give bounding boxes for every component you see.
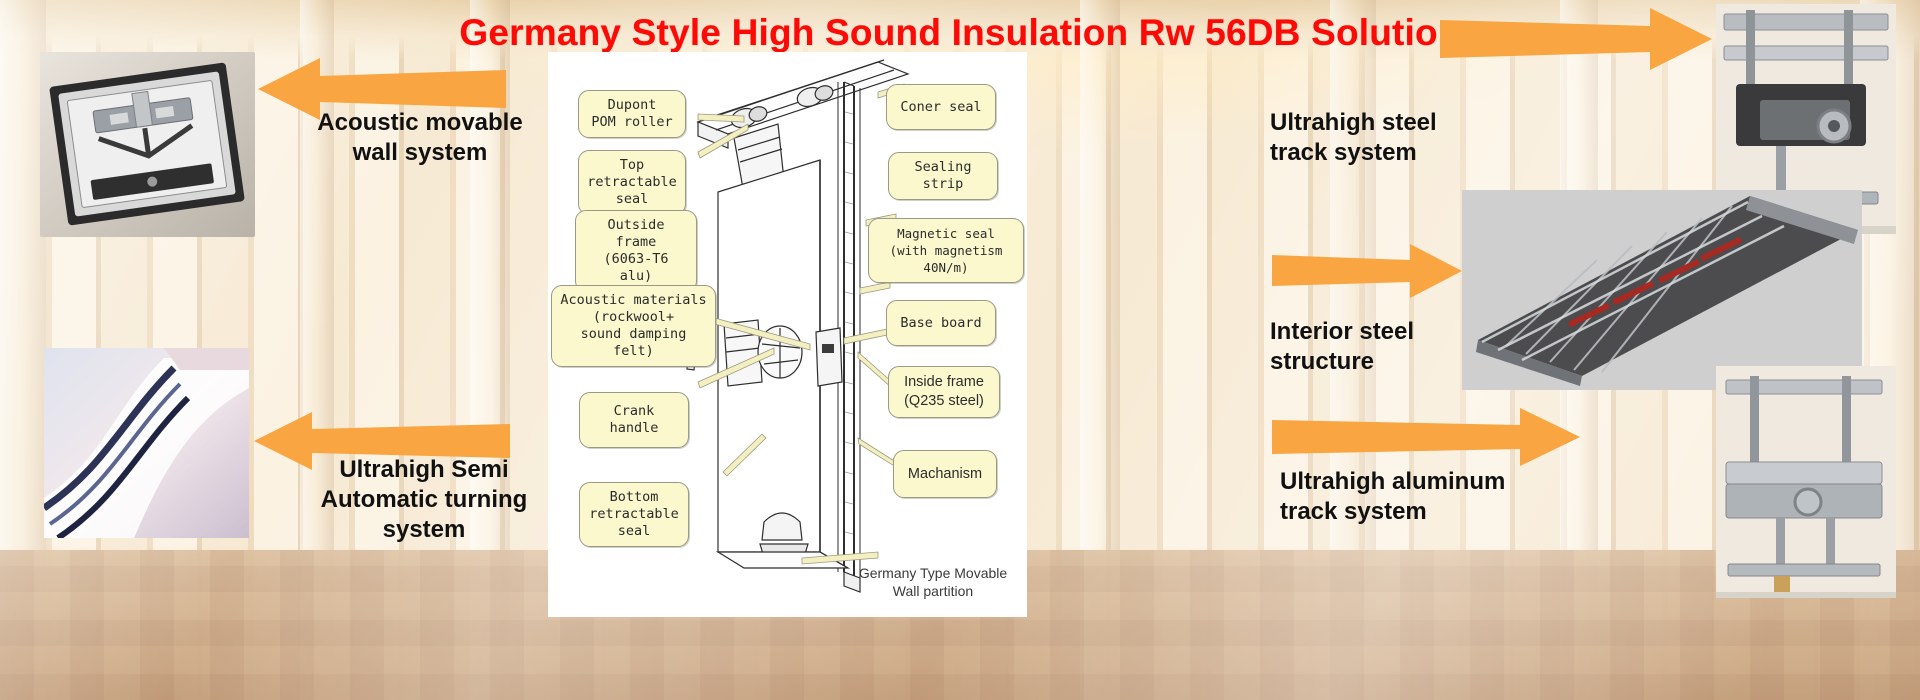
label-line: seal (588, 523, 680, 540)
arrow-right-top (1440, 8, 1712, 75)
label-line: Machanism (908, 465, 982, 484)
caption-line: Germany Type Movable (838, 564, 1028, 582)
caption-line: Automatic turning (268, 485, 580, 515)
caption-ultrahigh-aluminum-track: Ultrahigh aluminum track system (1280, 467, 1610, 527)
caption-line: Interior steel (1270, 317, 1550, 347)
label-line: Magnetic seal (877, 225, 1015, 242)
diagram-caption: Germany Type Movable Wall partition (838, 564, 1028, 600)
caption-semi-automatic-turning: Ultrahigh Semi Automatic turning system (268, 455, 580, 545)
label-line: retractable (587, 174, 677, 191)
label-line: Crank handle (588, 403, 680, 437)
caption-line: Ultrahigh steel (1270, 108, 1570, 138)
label-line: Coner seal (900, 99, 981, 116)
caption-line: Wall partition (838, 582, 1028, 600)
photo-acoustic-movable-wall (40, 52, 255, 237)
label-sealing-strip: Sealing strip (888, 152, 998, 200)
label-line: (with magnetism 40N/m) (877, 242, 1015, 276)
caption-interior-steel-structure: Interior steel structure (1270, 317, 1550, 377)
label-inside-frame: Inside frame (Q235 steel) (888, 366, 1000, 418)
label-magnetic-seal: Magnetic seal (with magnetism 40N/m) (868, 218, 1024, 283)
label-coner-seal: Coner seal (886, 84, 996, 130)
label-line: (Q235 steel) (897, 392, 991, 411)
label-base-board: Base board (886, 300, 996, 346)
label-line: Top (587, 157, 677, 174)
caption-line: Acoustic movable (280, 108, 560, 138)
label-dupont-pom-roller: Dupont POM roller (578, 90, 686, 138)
caption-line: track system (1270, 138, 1570, 168)
label-line: Outside frame (584, 217, 688, 251)
caption-line: wall system (280, 138, 560, 168)
caption-line: structure (1270, 347, 1550, 377)
label-line: Acoustic materials (560, 292, 707, 309)
label-line: strip (897, 176, 989, 193)
label-line: Sealing (897, 159, 989, 176)
label-line: Dupont (587, 97, 677, 114)
label-line: (rockwool+ (560, 309, 707, 326)
photo-ultrahigh-aluminum-track (1716, 366, 1896, 598)
caption-line: Ultrahigh aluminum (1280, 467, 1610, 497)
caption-line: Ultrahigh Semi (268, 455, 580, 485)
arrow-right-bottom (1272, 408, 1580, 471)
label-line: sound damping felt) (560, 326, 707, 360)
label-top-retractable-seal: Top retractable seal (578, 150, 686, 215)
label-line: POM roller (587, 114, 677, 131)
label-line: retractable (588, 506, 680, 523)
photo-semi-automatic-turning-system (44, 348, 249, 538)
label-line: Inside frame (897, 373, 991, 392)
label-line: seal (587, 191, 677, 208)
label-line: Bottom (588, 489, 680, 506)
label-outside-frame: Outside frame (6063-T6 alu) (575, 210, 697, 292)
label-machanism: Machanism (893, 450, 997, 498)
label-bottom-retractable-seal: Bottom retractable seal (579, 482, 689, 547)
label-line: (6063-T6 alu) (584, 251, 688, 285)
label-acoustic-materials: Acoustic materials (rockwool+ sound damp… (551, 285, 716, 367)
poster-canvas: Germany Style High Sound Insulation Rw 5… (0, 0, 1920, 700)
caption-ultrahigh-steel-track: Ultrahigh steel track system (1270, 108, 1570, 168)
label-line: Base board (900, 315, 981, 332)
arrow-right-mid (1272, 244, 1462, 303)
caption-line: system (268, 515, 580, 545)
caption-line: track system (1280, 497, 1610, 527)
label-crank-handle: Crank handle (579, 392, 689, 448)
caption-acoustic-movable-wall: Acoustic movable wall system (280, 108, 560, 168)
technical-diagram-card: Dupont POM roller Top retractable seal O… (548, 52, 1027, 617)
